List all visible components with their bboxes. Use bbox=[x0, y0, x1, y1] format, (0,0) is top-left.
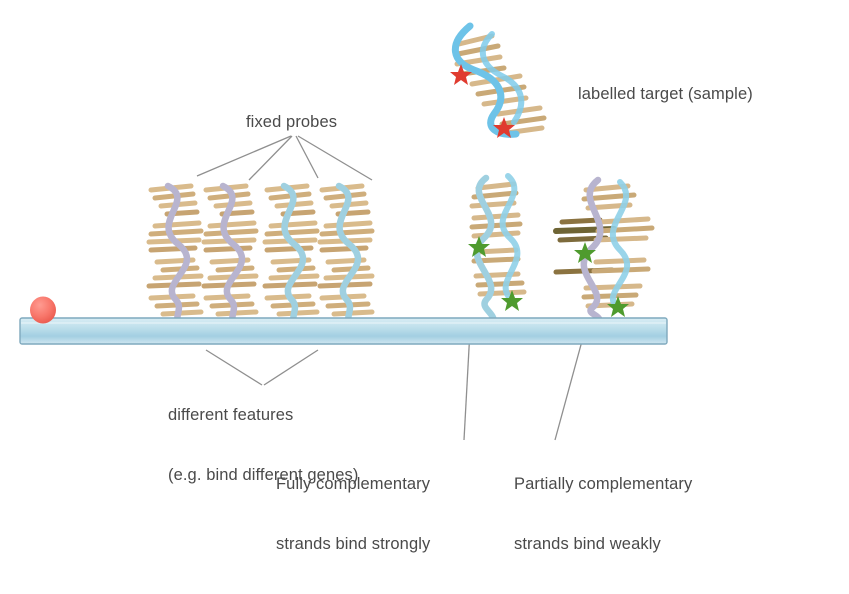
labelled-target-strand bbox=[450, 26, 544, 138]
label-partially-complementary-line1: Partially complementary bbox=[514, 474, 692, 494]
red-marker-dot bbox=[30, 297, 56, 324]
probe-6-partially-bound bbox=[556, 180, 652, 322]
probe-1 bbox=[149, 186, 201, 322]
label-partially-complementary-line2: strands bind weakly bbox=[514, 534, 692, 554]
fixed-probes-leader-lines bbox=[197, 136, 372, 180]
fully-complementary-leader-line bbox=[464, 330, 470, 440]
label-fixed-probes: fixed probes bbox=[246, 112, 337, 132]
diagram-canvas: fixed probes labelled target (sample) di… bbox=[0, 0, 849, 527]
probe-4 bbox=[320, 186, 372, 322]
label-fully-complementary-line2: strands bind strongly bbox=[276, 534, 430, 554]
partially-complementary-leader-line bbox=[555, 330, 585, 440]
probe-5-fully-bound bbox=[468, 176, 524, 322]
label-fully-complementary-line1: Fully complementary bbox=[276, 474, 430, 494]
microarray-slide bbox=[20, 318, 667, 344]
label-labelled-target: labelled target (sample) bbox=[578, 84, 753, 104]
label-partially-complementary: Partially complementary strands bind wea… bbox=[514, 434, 692, 594]
probe-3 bbox=[265, 186, 317, 322]
probe-2 bbox=[204, 186, 256, 322]
label-fully-complementary: Fully complementary strands bind strongl… bbox=[276, 434, 430, 594]
label-different-features-line1: different features bbox=[168, 405, 358, 425]
